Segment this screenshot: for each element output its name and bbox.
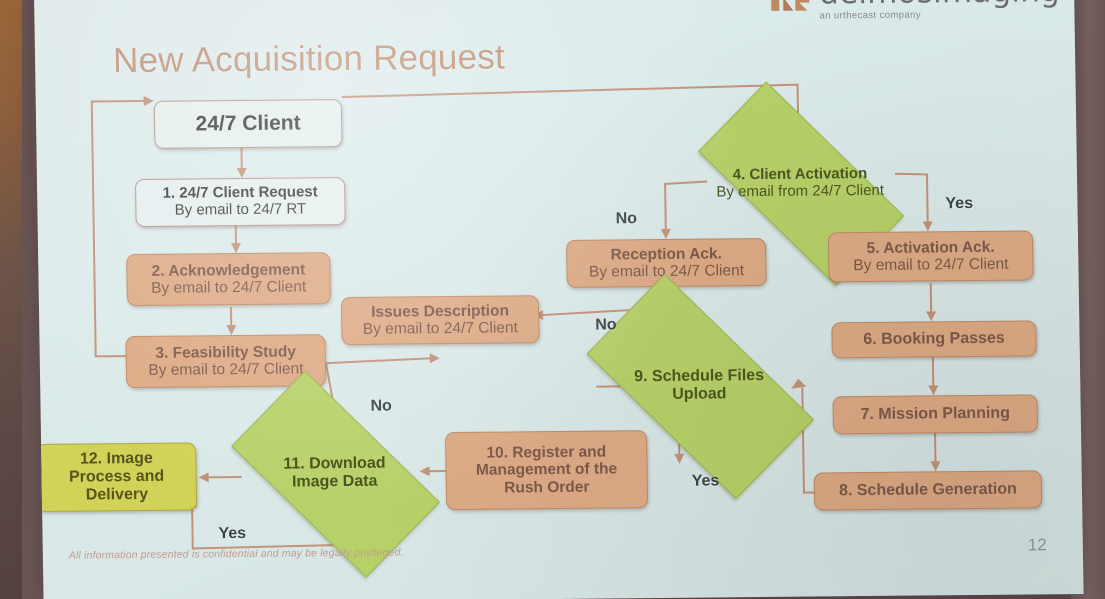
- node-issues-line2: By email to 24/7 Client: [363, 319, 518, 338]
- node-step12-line1: 12. Image: [80, 450, 153, 469]
- node-step3-line2: By email to 24/7 Client: [148, 360, 303, 379]
- edge-label-yes-step4: Yes: [945, 195, 973, 213]
- node-step3-line1: 3. Feasibility Study: [155, 343, 296, 362]
- node-step6-line1: 6. Booking Passes: [863, 330, 1005, 349]
- node-step8[interactable]: 8. Schedule Generation: [814, 470, 1043, 510]
- node-step11-line1: 11. Download: [254, 454, 414, 474]
- node-step2[interactable]: 2. Acknowledgement By email to 24/7 Clie…: [126, 252, 331, 306]
- node-step9-line1: 9. Schedule Files: [609, 366, 789, 386]
- node-step8-line1: 8. Schedule Generation: [839, 481, 1017, 501]
- node-step9[interactable]: 9. Schedule Files Upload: [595, 330, 803, 442]
- page-number: 12: [1028, 535, 1047, 555]
- node-step1-line2: By email to 24/7 RT: [175, 201, 307, 219]
- photographed-slide-scene: deimosimaging an urthecast company New A…: [0, 0, 1105, 599]
- edge-label-no-step11: No: [370, 398, 392, 416]
- node-step10-line1: 10. Register and: [486, 443, 606, 462]
- edge-label-yes-step9: Yes: [692, 472, 720, 490]
- node-step5-line2: By email to 24/7 Client: [853, 256, 1008, 275]
- node-issues-description[interactable]: Issues Description By email to 24/7 Clie…: [341, 295, 540, 345]
- node-step11-line2: Image Data: [255, 472, 415, 492]
- node-step9-line2: Upload: [609, 385, 789, 405]
- node-step10-line2: Management of the Rush Order: [454, 461, 639, 497]
- node-step7-line1: 7. Mission Planning: [860, 405, 1010, 424]
- node-reception-ack-line1: Reception Ack.: [610, 245, 722, 263]
- node-step2-line2: By email to 24/7 Client: [151, 278, 306, 297]
- node-client[interactable]: 24/7 Client: [154, 99, 343, 149]
- node-step5[interactable]: 5. Activation Ack. By email to 24/7 Clie…: [828, 230, 1034, 282]
- presentation-slide: deimosimaging an urthecast company New A…: [34, 0, 1084, 599]
- node-step7[interactable]: 7. Mission Planning: [832, 394, 1038, 434]
- node-step12-line2: Process and Delivery: [37, 468, 196, 505]
- node-step11[interactable]: 11. Download Image Data: [241, 420, 429, 526]
- node-step4[interactable]: 4. Client Activation By email from 24/7 …: [704, 134, 896, 232]
- node-step6[interactable]: 6. Booking Passes: [831, 320, 1037, 358]
- node-step4-line1: 4. Client Activation: [710, 165, 890, 184]
- edge-label-yes-step11: Yes: [218, 525, 246, 543]
- node-step10[interactable]: 10. Register and Management of the Rush …: [445, 430, 648, 510]
- edge-label-no-step4: No: [616, 210, 638, 228]
- edge-label-no-step9: No: [595, 316, 617, 334]
- node-client-line1: 24/7 Client: [195, 112, 300, 137]
- node-issues-line1: Issues Description: [371, 302, 509, 321]
- node-step4-line2: By email from 24/7 Client: [710, 182, 890, 201]
- node-step2-line1: 2. Acknowledgement: [151, 261, 305, 280]
- node-step5-line1: 5. Activation Ack.: [866, 238, 994, 257]
- node-step1[interactable]: 1. 24/7 Client Request By email to 24/7 …: [135, 177, 346, 227]
- node-step12[interactable]: 12. Image Process and Delivery: [36, 442, 197, 512]
